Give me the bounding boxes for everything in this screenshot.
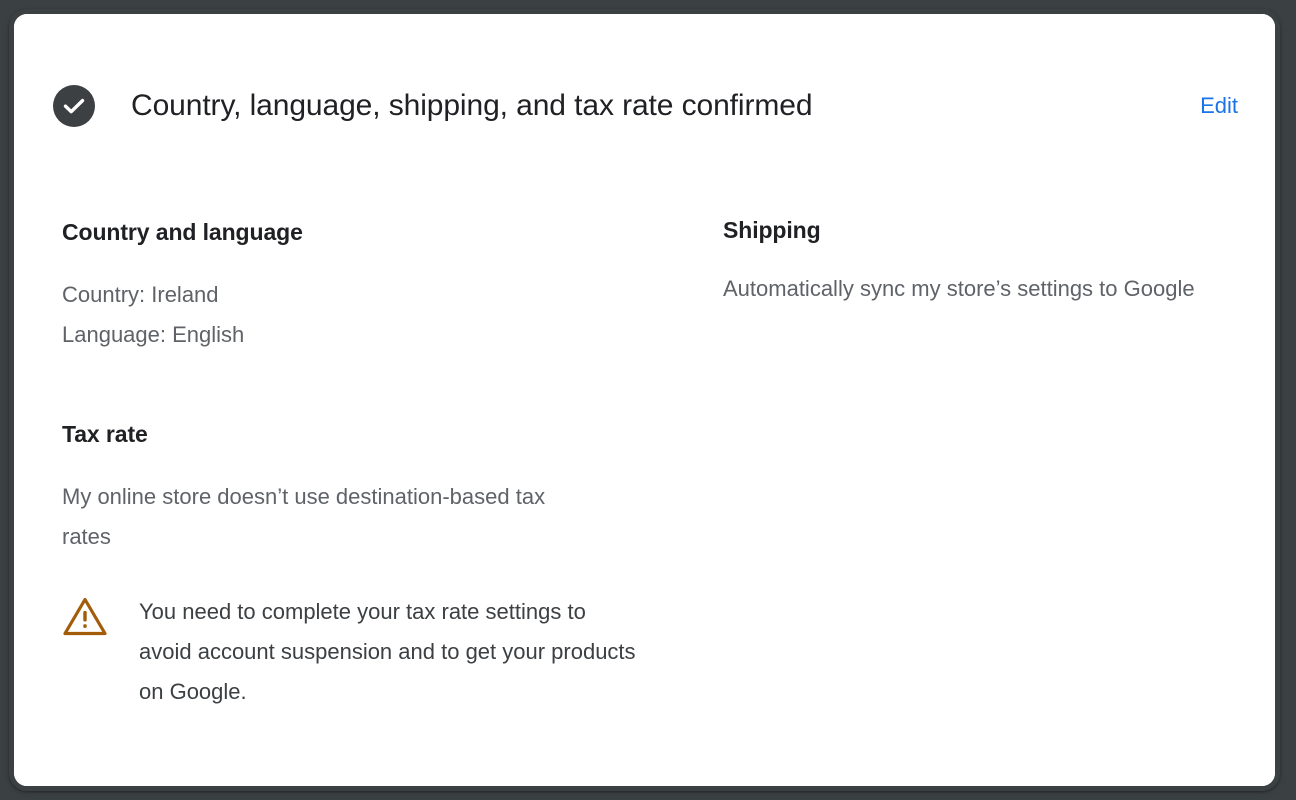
country-and-language-heading: Country and language (62, 217, 303, 247)
tax-rate-value: My online store doesn’t use destination-… (62, 477, 577, 557)
page-title: Country, language, shipping, and tax rat… (131, 88, 812, 124)
card-content: Country, language, shipping, and tax rat… (14, 14, 1275, 786)
check-circle-icon (53, 85, 95, 127)
country-value: Country: Ireland (62, 275, 582, 315)
tax-rate-warning-text: You need to complete your tax rate setti… (139, 592, 639, 712)
shipping-heading: Shipping (723, 215, 821, 245)
edit-button[interactable]: Edit (1196, 90, 1242, 122)
tax-rate-warning: You need to complete your tax rate setti… (62, 592, 662, 712)
shipping-value: Automatically sync my store’s settings t… (723, 269, 1253, 309)
tax-rate-heading: Tax rate (62, 419, 662, 449)
tax-rate-section: Tax rate My online store doesn’t use des… (62, 419, 662, 557)
shipping-values: Automatically sync my store’s settings t… (723, 269, 1253, 309)
settings-summary-card: Country, language, shipping, and tax rat… (9, 9, 1280, 791)
warning-triangle-icon (62, 596, 108, 638)
language-value: Language: English (62, 315, 582, 355)
card-header: Country, language, shipping, and tax rat… (53, 81, 1242, 131)
country-and-language-values: Country: Ireland Language: English (62, 275, 582, 355)
